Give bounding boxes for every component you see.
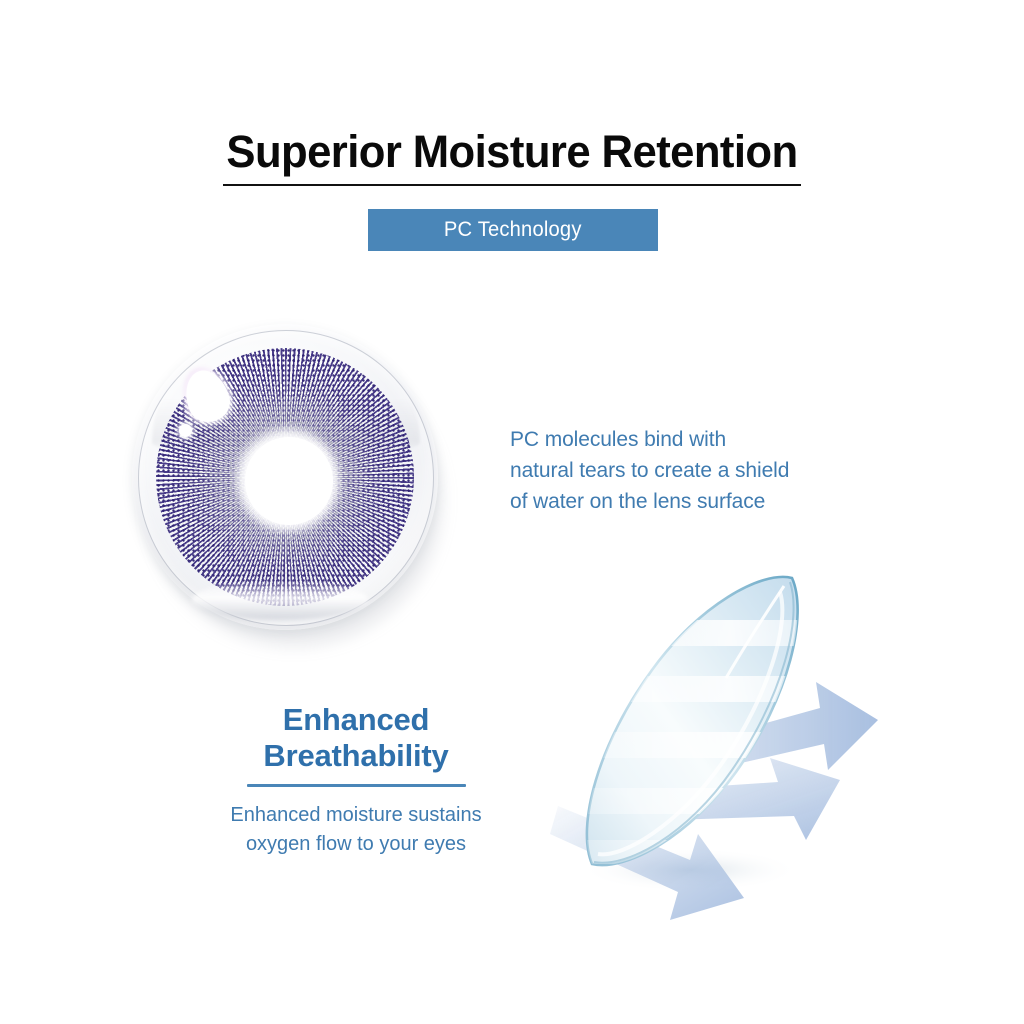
breathability-heading: Enhanced Breathability — [196, 702, 516, 774]
infographic-canvas: Superior Moisture Retention PC Technolog… — [0, 0, 1024, 1024]
pc-description-line-1: PC molecules bind with — [510, 424, 870, 455]
contact-lens-image — [118, 312, 460, 660]
breathability-text-block: Enhanced Breathability Enhanced moisture… — [196, 702, 516, 859]
breathability-heading-line-1: Enhanced — [196, 702, 516, 738]
title-underline-rule — [223, 184, 801, 186]
lens-cross-section-illustration — [540, 548, 920, 928]
breathability-description-line-2: oxygen flow to your eyes — [196, 830, 516, 859]
pc-technology-badge-label: PC Technology — [444, 218, 582, 242]
lens-pupil-hole — [245, 437, 333, 525]
header-title-block: Superior Moisture Retention — [0, 128, 1024, 186]
pc-technology-description: PC molecules bind with natural tears to … — [510, 424, 870, 517]
breathability-description: Enhanced moisture sustains oxygen flow t… — [196, 801, 516, 859]
pc-description-line-3: of water on the lens surface — [510, 486, 870, 517]
lens-bottom-gloss — [192, 580, 368, 620]
pc-description-line-2: natural tears to create a shield — [510, 455, 870, 486]
pc-technology-badge: PC Technology — [368, 209, 658, 251]
page-title: Superior Moisture Retention — [15, 128, 1008, 175]
breathability-description-line-1: Enhanced moisture sustains — [196, 801, 516, 830]
lens-highlight-small-icon — [179, 424, 192, 437]
breathability-underline-rule — [247, 784, 466, 787]
breathability-heading-line-2: Breathability — [196, 738, 516, 774]
